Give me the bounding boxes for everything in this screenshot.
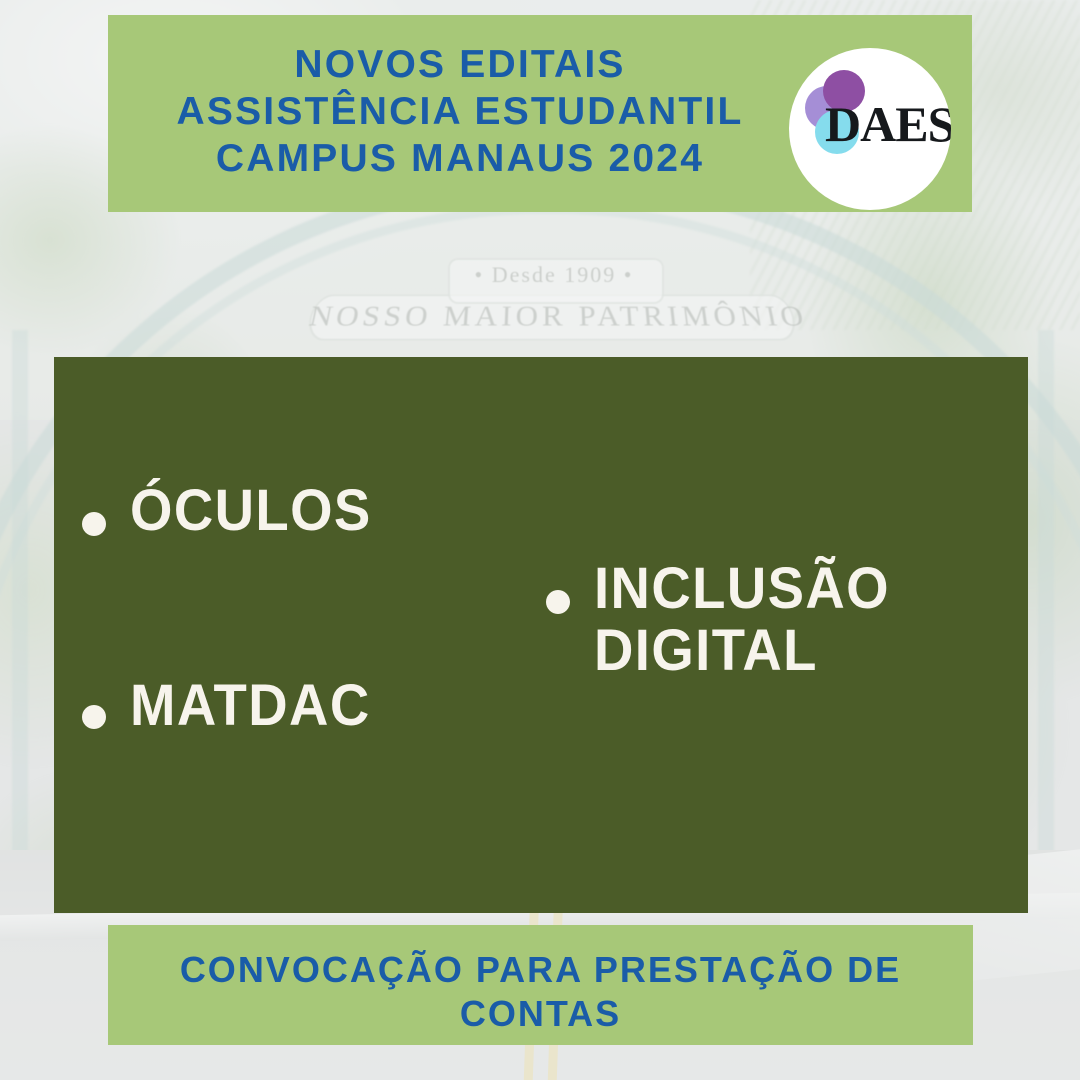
header-title-line-1: NOVOS EDITAIS xyxy=(108,41,812,88)
daest-logo: DAEST xyxy=(789,48,951,210)
bullet-dot-icon xyxy=(82,512,106,536)
list-item-matdac: MATDAC xyxy=(82,675,386,737)
list-item-label: ÓCULOS xyxy=(130,480,372,542)
list-item-label: INCLUSÃO DIGITAL xyxy=(594,558,890,682)
footer-text-line-2: CONTAS xyxy=(460,993,621,1034)
logo-wordmark: DAEST xyxy=(825,95,951,153)
poster-canvas: • Desde 1909 • NOSSO MAIOR PATRIMÔNIO NO… xyxy=(0,0,1080,1080)
footer-text-line-1: CONVOCAÇÃO PARA PRESTAÇÃO DE xyxy=(180,949,901,990)
list-item-oculos: ÓCULOS xyxy=(82,480,387,542)
list-item-label: MATDAC xyxy=(130,675,371,737)
bullet-dot-icon xyxy=(546,590,570,614)
header-title-line-3: CAMPUS MANAUS 2024 xyxy=(108,135,812,182)
bullet-dot-icon xyxy=(82,705,106,729)
list-item-inclusao-digital: INCLUSÃO DIGITAL xyxy=(546,558,909,682)
footer-text: CONVOCAÇÃO PARA PRESTAÇÃO DE CONTAS xyxy=(148,948,933,1036)
header-title-line-2: ASSISTÊNCIA ESTUDANTIL xyxy=(108,88,812,135)
footer-banner: CONVOCAÇÃO PARA PRESTAÇÃO DE CONTAS xyxy=(108,925,973,1045)
header-title: NOVOS EDITAIS ASSISTÊNCIA ESTUDANTIL CAM… xyxy=(108,41,812,182)
